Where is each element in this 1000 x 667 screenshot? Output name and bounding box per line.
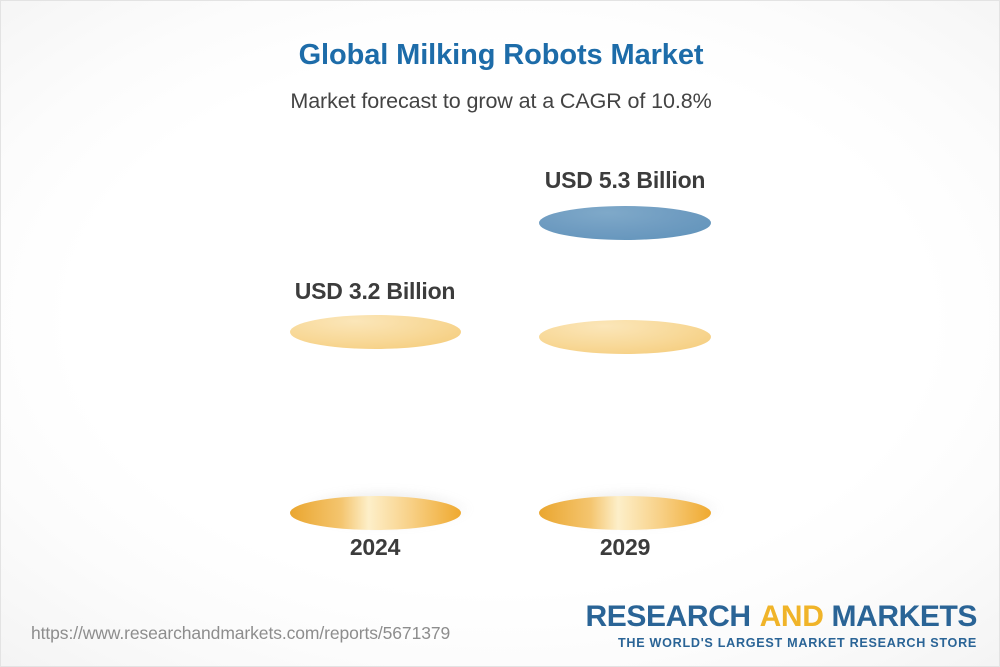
bar-value-label-2024: USD 3.2 Billion xyxy=(255,278,495,305)
bar-top-cap-2024 xyxy=(290,315,461,349)
bar-body-2024 xyxy=(290,332,461,513)
logo-word-and: AND xyxy=(760,600,824,633)
logo-tagline: THE WORLD'S LARGEST MARKET RESEARCH STOR… xyxy=(586,636,977,650)
researchandmarkets-logo[interactable]: RESEARCHANDMARKETS THE WORLD'S LARGEST M… xyxy=(586,601,977,650)
bar-2024[interactable] xyxy=(290,315,461,513)
chart-canvas: Global Milking Robots Market Market fore… xyxy=(0,0,1000,667)
bar-2029[interactable] xyxy=(539,206,711,513)
bar-value-label-2029: USD 5.3 Billion xyxy=(505,167,745,194)
bar-category-label-2029: 2029 xyxy=(505,534,745,561)
logo-word-markets: MARKETS xyxy=(831,600,977,633)
bar-segment-divider-cap-2029 xyxy=(539,320,711,354)
report-url[interactable]: https://www.researchandmarkets.com/repor… xyxy=(31,623,450,644)
bar-top-cap-2029 xyxy=(539,206,711,240)
bar-body-segment-base-2029 xyxy=(539,331,711,513)
bar-category-label-2024: 2024 xyxy=(255,534,495,561)
logo-word-research: RESEARCH xyxy=(586,600,751,633)
chart-plot-area: USD 3.2 Billion 2024 USD 5.3 Billion xyxy=(1,1,1000,667)
logo-wordmark: RESEARCHANDMARKETS xyxy=(586,601,977,633)
